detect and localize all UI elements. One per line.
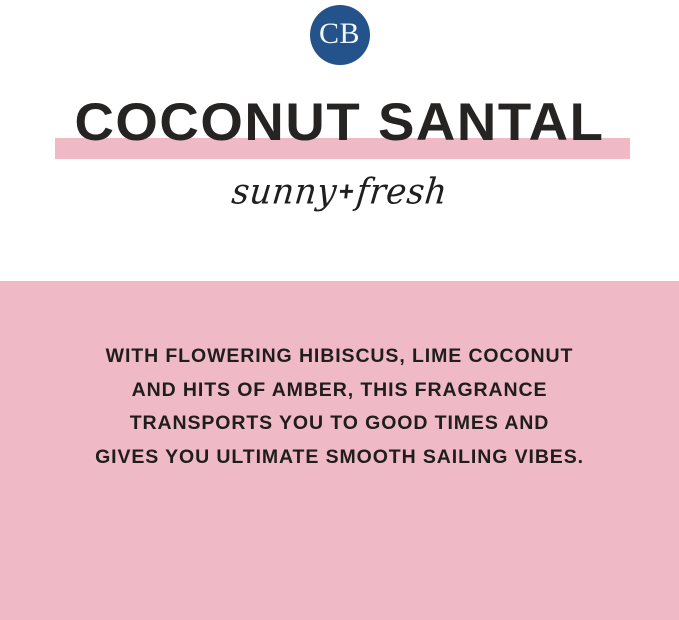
tagline-word-second: fresh: [354, 171, 449, 213]
brand-logo-badge: CB: [310, 5, 370, 65]
tagline-plus-icon: +: [335, 175, 358, 207]
product-title-block: COCONUT SANTAL: [0, 96, 679, 162]
product-fragrance-card: CB COCONUT SANTAL sunny+fresh WITH FLOWE…: [0, 0, 679, 620]
description-panel: WITH FLOWERING HIBISCUS, LIME COCONUT AN…: [0, 281, 679, 620]
product-title: COCONUT SANTAL: [0, 96, 679, 150]
product-tagline: sunny+fresh: [0, 169, 679, 217]
tagline-word-first: sunny: [230, 171, 339, 213]
description-text: WITH FLOWERING HIBISCUS, LIME COCONUT AN…: [0, 340, 679, 474]
header-section: CB COCONUT SANTAL sunny+fresh: [0, 0, 679, 281]
brand-logo-initials: CB: [319, 19, 360, 51]
